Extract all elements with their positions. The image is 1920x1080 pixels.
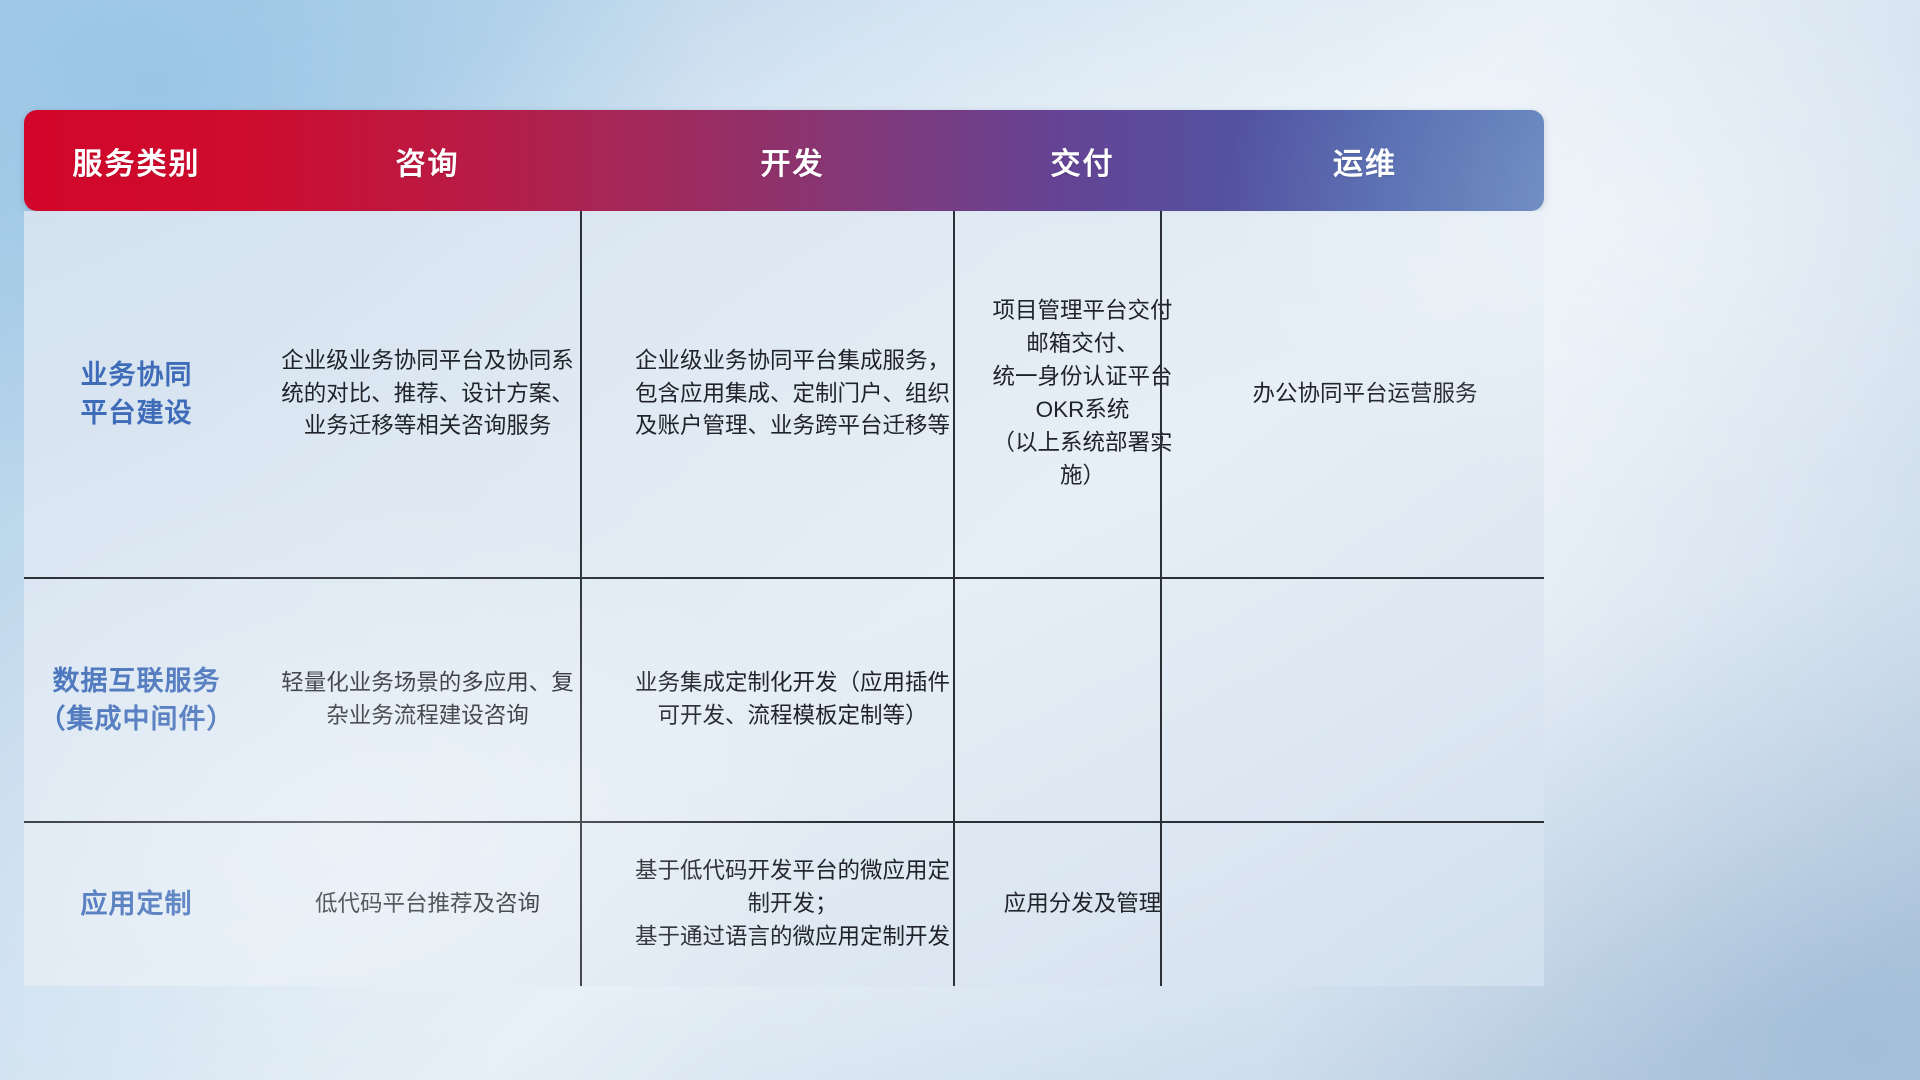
cell-text: 低代码平台推荐及咨询: [315, 888, 540, 921]
row-category-cell: 应用定制: [24, 823, 249, 986]
column-header-development: 开发: [606, 110, 979, 211]
table-row: 应用定制 低代码平台推荐及咨询 基于低代码开发平台的微应用定 制开发； 基于通过…: [24, 823, 1544, 986]
cell-consulting: 低代码平台推荐及咨询: [249, 823, 606, 986]
table-row: 业务协同 平台建设 企业级业务协同平台及协同系 统的对比、推荐、设计方案、 业务…: [24, 211, 1544, 577]
cell-delivery: 应用分发及管理: [979, 823, 1186, 986]
cell-delivery: [979, 579, 1186, 821]
cell-text: 基于低代码开发平台的微应用定 制开发； 基于通过语言的微应用定制开发: [635, 855, 950, 954]
table-body: 业务协同 平台建设 企业级业务协同平台及协同系 统的对比、推荐、设计方案、 业务…: [24, 211, 1544, 986]
row-separator-1: [24, 577, 1544, 579]
cell-development: 企业级业务协同平台集成服务， 包含应用集成、定制门户、组织 及账户管理、业务跨平…: [606, 211, 979, 577]
row-separator-2: [24, 821, 1544, 823]
cell-development: 业务集成定制化开发（应用插件 可开发、流程模板定制等）: [606, 579, 979, 821]
service-matrix-table: 服务类别 咨询 开发 交付 运维 业务协同 平台建设 企业级业务协同平台及协同系…: [24, 110, 1544, 986]
table-header-row: 服务类别 咨询 开发 交付 运维: [24, 110, 1544, 211]
cell-text: 办公协同平台运营服务: [1252, 378, 1477, 411]
column-header-consulting: 咨询: [249, 110, 606, 211]
column-separator-consulting-development: [580, 211, 582, 986]
row-category-cell: 数据互联服务 （集成中间件）: [24, 579, 249, 821]
column-separator-development-delivery: [953, 211, 955, 986]
cell-delivery: 项目管理平台交付 邮箱交付、 统一身份认证平台 OKR系统 （以上系统部署实施）: [979, 211, 1186, 577]
cell-text: 项目管理平台交付 邮箱交付、 统一身份认证平台 OKR系统 （以上系统部署实施）: [989, 295, 1176, 492]
row-category-label: 业务协同 平台建设: [81, 356, 193, 433]
row-category-label: 数据互联服务 （集成中间件）: [39, 662, 235, 739]
cell-operations: 办公协同平台运营服务: [1186, 211, 1544, 577]
column-header-category: 服务类别: [24, 110, 249, 211]
cell-operations: [1186, 823, 1544, 986]
column-header-delivery: 交付: [979, 110, 1186, 211]
cell-consulting: 轻量化业务场景的多应用、复 杂业务流程建设咨询: [249, 579, 606, 821]
cell-text: 业务集成定制化开发（应用插件 可开发、流程模板定制等）: [635, 667, 950, 733]
cell-consulting: 企业级业务协同平台及协同系 统的对比、推荐、设计方案、 业务迁移等相关咨询服务: [249, 211, 606, 577]
cell-text: 应用分发及管理: [1004, 888, 1162, 921]
column-separator-delivery-operations: [1160, 211, 1162, 986]
cell-text: 企业级业务协同平台及协同系 统的对比、推荐、设计方案、 业务迁移等相关咨询服务: [281, 345, 574, 444]
cell-text: 企业级业务协同平台集成服务， 包含应用集成、定制门户、组织 及账户管理、业务跨平…: [635, 345, 950, 444]
slide-canvas: 服务类别 咨询 开发 交付 运维 业务协同 平台建设 企业级业务协同平台及协同系…: [0, 0, 1920, 1080]
column-header-operations: 运维: [1186, 110, 1544, 211]
cell-development: 基于低代码开发平台的微应用定 制开发； 基于通过语言的微应用定制开发: [606, 823, 979, 986]
cell-text: 轻量化业务场景的多应用、复 杂业务流程建设咨询: [281, 667, 574, 733]
table-row: 数据互联服务 （集成中间件） 轻量化业务场景的多应用、复 杂业务流程建设咨询 业…: [24, 579, 1544, 821]
cell-operations: [1186, 579, 1544, 821]
row-category-cell: 业务协同 平台建设: [24, 211, 249, 577]
row-category-label: 应用定制: [81, 885, 193, 923]
